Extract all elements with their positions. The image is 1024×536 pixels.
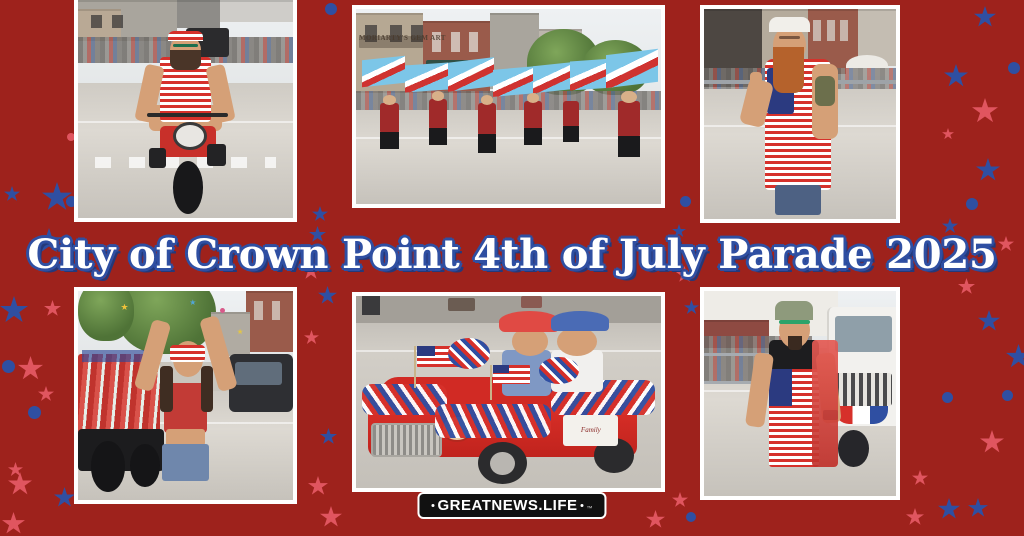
- star-icon: [42, 182, 72, 212]
- greatnews-life-logo[interactable]: GREATNEWS.LIFE ™: [417, 492, 606, 519]
- star-icon: [320, 506, 342, 528]
- star-icon: [938, 498, 960, 520]
- star-icon: [976, 158, 1000, 182]
- float-placard-text: Family: [581, 426, 601, 434]
- star-icon: [942, 218, 958, 234]
- star-icon: [38, 386, 54, 402]
- star-icon: [8, 462, 23, 477]
- star-icon: [44, 300, 61, 317]
- star-icon: [320, 428, 337, 445]
- star-icon: [978, 310, 1000, 332]
- dot-icon: [1002, 390, 1013, 401]
- star-icon: [974, 6, 996, 28]
- dot-icon: [942, 392, 953, 403]
- star-icon: [942, 128, 954, 140]
- star-icon: [302, 262, 320, 280]
- star-icon: [0, 296, 28, 324]
- dot-icon: [1008, 62, 1020, 74]
- dot-icon: [680, 196, 691, 207]
- star-icon: [968, 498, 988, 518]
- logo-left-dot-icon: [431, 504, 434, 507]
- star-icon: [676, 266, 693, 283]
- dot-icon: [2, 360, 15, 373]
- photo-thumbs-up-man[interactable]: [700, 5, 900, 223]
- star-icon: [684, 300, 699, 315]
- photo-flag-overalls-man[interactable]: [700, 287, 900, 500]
- star-icon: [958, 278, 975, 295]
- star-icon: [18, 356, 43, 381]
- photo-kids-mini-car[interactable]: Family: [352, 292, 665, 492]
- star-icon: [646, 510, 665, 529]
- star-icon: [54, 487, 75, 508]
- star-icon: [972, 98, 998, 124]
- star-icon: [980, 430, 1004, 454]
- dot-icon: [28, 406, 41, 419]
- star-icon: [312, 206, 328, 222]
- dot-icon: [966, 198, 978, 210]
- star-icon: [4, 186, 20, 202]
- logo-text: GREATNEWS.LIFE: [437, 498, 577, 513]
- photo-cheering-woman[interactable]: [74, 287, 297, 504]
- storefront-sign: MORIARTY'S GEM ART: [359, 34, 446, 42]
- star-icon: [309, 226, 326, 243]
- star-icon: [304, 330, 319, 345]
- dot-icon: [686, 512, 696, 522]
- star-icon: [2, 512, 25, 535]
- star-icon: [318, 286, 337, 305]
- photo-motorcycle-rider[interactable]: [74, 0, 297, 222]
- star-icon: [912, 470, 928, 486]
- star-icon: [998, 236, 1014, 252]
- star-icon: [8, 472, 32, 496]
- dot-icon: [325, 3, 337, 15]
- star-icon: [1006, 344, 1024, 369]
- page-title: City of Crown Point 4th of July Parade 2…: [27, 235, 996, 275]
- star-icon: [672, 224, 686, 238]
- star-icon: [944, 64, 968, 88]
- star-icon: [672, 492, 688, 508]
- parade-photo-collage-poster: MORIARTY'S GEM ART: [0, 0, 1024, 536]
- logo-right-dot-icon: [581, 504, 584, 507]
- trademark-icon: ™: [587, 506, 593, 512]
- photo-flag-corps[interactable]: MORIARTY'S GEM ART: [352, 5, 665, 208]
- poster-title-band: City of Crown Point 4th of July Parade 2…: [0, 228, 1024, 282]
- star-icon: [906, 508, 924, 526]
- star-icon: [36, 228, 62, 254]
- star-icon: [308, 476, 328, 496]
